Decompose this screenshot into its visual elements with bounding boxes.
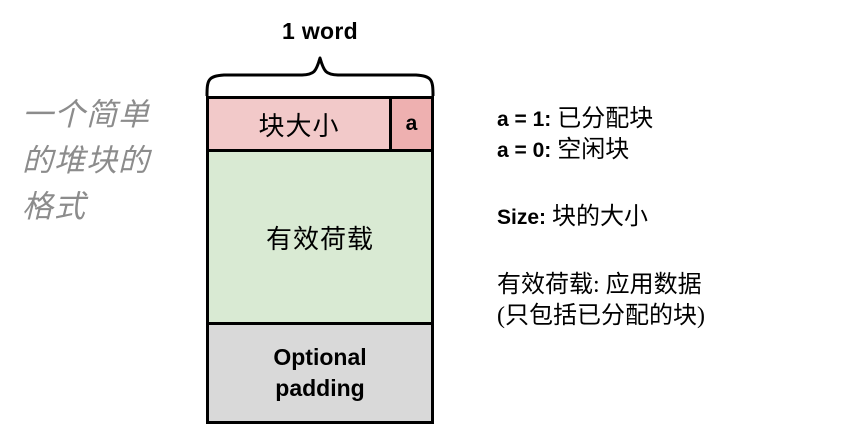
free-flag-legend-lead: a = 0: bbox=[497, 139, 551, 162]
diagram-caption: 一个简单的堆块的格式 bbox=[22, 92, 172, 230]
block-padding-label-line2: padding bbox=[275, 373, 364, 404]
block-header-row: 块大小 a bbox=[209, 99, 431, 152]
payload-legend: 有效荷载: 应用数据 bbox=[497, 270, 705, 301]
block-padding-row: Optional padding bbox=[209, 325, 431, 421]
payload-legend-body: 应用数据 bbox=[600, 272, 702, 298]
alloc-flag-legend: a = 1: 已分配块 bbox=[497, 104, 653, 135]
alloc-flag-label: a bbox=[406, 112, 418, 136]
size-legend-group: Size: 块的大小 bbox=[497, 202, 648, 233]
flag-legend-group: a = 1: 已分配块 a = 0: 空闲块 bbox=[497, 104, 653, 166]
free-flag-legend-body: 空闲块 bbox=[551, 137, 629, 163]
alloc-flag-legend-lead: a = 1: bbox=[497, 108, 551, 131]
heap-block-diagram: 块大小 a 有效荷载 Optional padding bbox=[206, 96, 434, 424]
alloc-flag-legend-body: 已分配块 bbox=[551, 106, 653, 132]
width-label: 1 word bbox=[206, 18, 434, 45]
alloc-flag-field: a bbox=[392, 99, 431, 149]
payload-legend-note-text: (只包括已分配的块) bbox=[497, 303, 705, 329]
size-legend-body: 块的大小 bbox=[546, 204, 648, 230]
block-size-field: 块大小 bbox=[209, 99, 392, 149]
diagram-canvas: 一个简单的堆块的格式 1 word 块大小 a 有效荷载 Optional pa… bbox=[0, 0, 853, 427]
size-legend: Size: 块的大小 bbox=[497, 202, 648, 233]
size-legend-lead: Size: bbox=[497, 206, 546, 229]
width-brace bbox=[202, 52, 438, 96]
block-padding-label-line1: Optional bbox=[273, 342, 366, 373]
payload-legend-lead: 有效荷载: bbox=[497, 272, 600, 298]
block-payload-label: 有效荷载 bbox=[266, 219, 374, 256]
payload-legend-group: 有效荷载: 应用数据 (只包括已分配的块) bbox=[497, 270, 705, 332]
block-payload-row: 有效荷载 bbox=[209, 152, 431, 325]
block-size-label: 块大小 bbox=[258, 106, 339, 143]
free-flag-legend: a = 0: 空闲块 bbox=[497, 135, 653, 166]
payload-legend-note: (只包括已分配的块) bbox=[497, 301, 705, 332]
